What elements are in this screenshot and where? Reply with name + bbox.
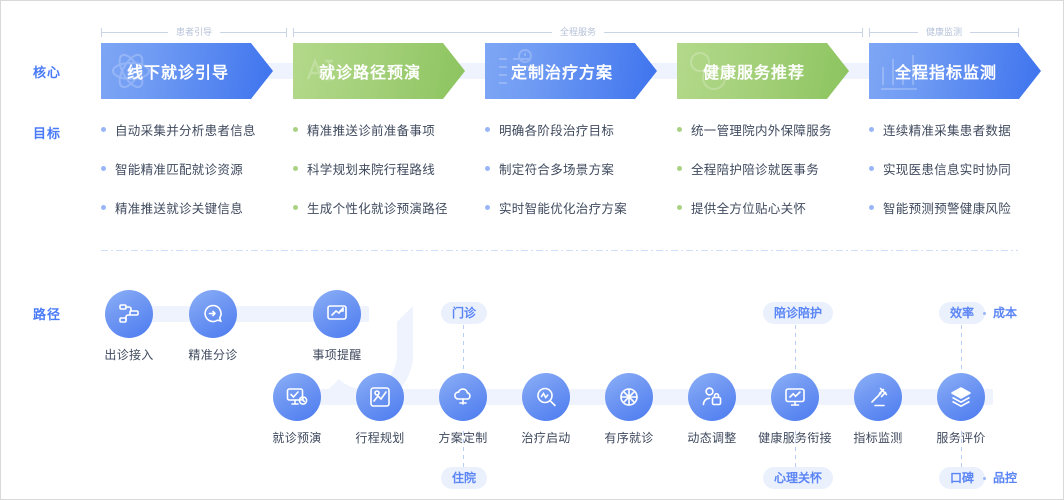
node-circle (854, 373, 902, 421)
bracket-cap-right (286, 28, 287, 37)
goal-item: 精准推送就诊关键信息 (101, 197, 291, 217)
goal-column-2: 明确各阶段治疗目标 制定符合多场景方案 实时智能优化治疗方案 (485, 119, 675, 236)
stage-title: 全程指标监测 (895, 59, 997, 83)
goal-item: 制定符合多场景方案 (485, 158, 675, 178)
goal-text: 精准推送就诊关键信息 (115, 198, 243, 217)
bracket-group-0: 患者引导 (101, 25, 287, 39)
path-node-bottom-3[interactable]: 治疗启动 (500, 373, 592, 446)
node-label: 出诊接入 (83, 346, 175, 363)
goal-column-3: 统一管理院内外保障服务 全程陪护陪诊就医事务 提供全方位贴心关怀 (677, 119, 867, 236)
stage-chevron-2[interactable]: 定制治疗方案 (485, 43, 657, 99)
goal-column-0: 自动采集并分析患者信息 智能精准匹配就诊资源 精准推送就诊关键信息 (101, 119, 291, 236)
goal-text: 制定符合多场景方案 (499, 159, 614, 178)
stage-title: 线下就诊引导 (127, 59, 229, 83)
goal-text: 实现医患信息实时协同 (883, 159, 1011, 178)
goal-text: 统一管理院内外保障服务 (691, 120, 832, 139)
bullet-dot (293, 127, 298, 132)
goal-item: 自动采集并分析患者信息 (101, 119, 291, 139)
outcome-tag-quality: 品控 (993, 467, 1017, 489)
goal-column-4: 连续精准采集患者数据 实现医患信息实时协同 智能预测预警健康风险 (869, 119, 1059, 236)
node-circle (105, 290, 153, 338)
rail-label-goal: 目标 (33, 123, 61, 142)
bullet-dot (101, 205, 106, 210)
bullet-dot (677, 205, 682, 210)
bracket-group-1: 全程服务 (293, 25, 863, 39)
goal-text: 生成个性化就诊预演路径 (307, 198, 448, 217)
bracket-label: 患者引导 (168, 25, 220, 38)
goal-text: 全程陪护陪诊就医事务 (691, 159, 819, 178)
goal-text: 明确各阶段治疗目标 (499, 120, 614, 139)
path-node-bottom-5[interactable]: 动态调整 (666, 373, 758, 446)
path-node-bottom-4[interactable]: 有序就诊 (583, 373, 675, 446)
monitor-trend-icon (783, 385, 807, 409)
bullet-dot (293, 166, 298, 171)
outcome-tag-reputation[interactable]: 口碑 (939, 467, 985, 489)
stage-title: 健康服务推荐 (703, 59, 805, 83)
bullet-dot (869, 205, 874, 210)
map-route-icon (368, 385, 392, 409)
monitor-check-icon (285, 385, 309, 409)
branch-tag-below-0[interactable]: 住院 (441, 467, 487, 489)
node-circle (356, 373, 404, 421)
bracket-cap-right (1018, 28, 1019, 37)
stage-title: 定制治疗方案 (511, 59, 613, 83)
path-node-top-0[interactable]: 出诊接入 (83, 290, 175, 363)
person-lock-icon (700, 385, 724, 409)
outcome-separator-dot-top (983, 312, 986, 315)
bracket-line-left (102, 32, 168, 33)
cloud-plan-icon (451, 385, 475, 409)
node-label: 指标监测 (832, 429, 924, 446)
node-circle (439, 373, 487, 421)
node-circle (688, 373, 736, 421)
goal-item: 连续精准采集患者数据 (869, 119, 1059, 139)
node-label: 精准分诊 (167, 346, 259, 363)
node-label: 有序就诊 (583, 429, 675, 446)
bracket-group-2: 健康监测 (869, 25, 1019, 39)
search-pulse-icon (534, 385, 558, 409)
bullet-dot (485, 127, 490, 132)
stage-chevron-0[interactable]: 线下就诊引导 (101, 43, 273, 99)
goal-item: 明确各阶段治疗目标 (485, 119, 675, 139)
bracket-label: 全程服务 (552, 25, 604, 38)
bullet-dot (485, 166, 490, 171)
bracket-cap-right (862, 28, 863, 37)
bullet-dot (293, 205, 298, 210)
goal-column-1: 精准推送诊前准备事项 科学规划来院行程路线 生成个性化就诊预演路径 (293, 119, 483, 236)
goal-item: 智能精准匹配就诊资源 (101, 158, 291, 178)
goal-text: 实时智能优化治疗方案 (499, 198, 627, 217)
goal-text: 智能预测预警健康风险 (883, 198, 1011, 217)
node-circle (313, 290, 361, 338)
infographic-canvas: 核心 目标 路径 患者引导 全程服务 健康监测 (0, 0, 1064, 500)
branch-tag-above-1[interactable]: 陪诊陪护 (763, 302, 833, 324)
node-circle (189, 290, 237, 338)
goal-item: 全程陪护陪诊就医事务 (677, 158, 867, 178)
branch-connector-up-1 (795, 325, 796, 371)
bracket-line-left (294, 32, 552, 33)
goal-text: 提供全方位贴心关怀 (691, 198, 806, 217)
node-label: 事项提醒 (291, 346, 383, 363)
gavel-icon (866, 385, 890, 409)
goal-text: 精准推送诊前准备事项 (307, 120, 435, 139)
section-divider (101, 250, 1018, 251)
bracket-line-left (870, 32, 918, 33)
speech-route-icon (201, 302, 225, 326)
branch-tag-below-1[interactable]: 心理关怀 (763, 467, 833, 489)
rail-label-core: 核心 (33, 62, 61, 81)
bullet-dot (869, 127, 874, 132)
bullet-dot (101, 127, 106, 132)
node-label: 动态调整 (666, 429, 758, 446)
node-label: 行程规划 (334, 429, 426, 446)
stage-chevron-3[interactable]: 健康服务推荐 (677, 43, 849, 99)
outcome-tag-efficiency[interactable]: 效率 (939, 302, 985, 324)
bullet-dot (869, 166, 874, 171)
stage-chevron-4[interactable]: 全程指标监测 (869, 43, 1041, 99)
bracket-line-right (604, 32, 862, 33)
path-node-bottom-1[interactable]: 行程规划 (334, 373, 426, 446)
network-hub-icon (617, 385, 641, 409)
goal-item: 实现医患信息实时协同 (869, 158, 1059, 178)
bracket-line-right (970, 32, 1018, 33)
outcome-connector-up (961, 325, 962, 371)
path-node-top-2[interactable]: 事项提醒 (291, 290, 383, 363)
branch-connector-down-1 (795, 431, 796, 467)
bullet-dot (101, 166, 106, 171)
goal-text: 科学规划来院行程路线 (307, 159, 435, 178)
goal-item: 精准推送诊前准备事项 (293, 119, 483, 139)
goal-text: 智能精准匹配就诊资源 (115, 159, 243, 178)
node-circle (273, 373, 321, 421)
bracket-line-right (220, 32, 286, 33)
bullet-dot (677, 127, 682, 132)
screen-arrow-icon (325, 302, 349, 326)
outcome-tag-cost: 成本 (993, 302, 1017, 324)
node-label: 治疗启动 (500, 429, 592, 446)
goal-item: 统一管理院内外保障服务 (677, 119, 867, 139)
stage-chevron-1[interactable]: 就诊路径预演 (293, 43, 465, 99)
goal-text: 连续精准采集患者数据 (883, 120, 1011, 139)
node-circle (605, 373, 653, 421)
bracket-label: 健康监测 (918, 25, 970, 38)
path-section: 出诊接入 精准分诊 (1, 263, 1063, 499)
path-node-bottom-0[interactable]: 就诊预演 (251, 373, 343, 446)
bullet-dot (485, 205, 490, 210)
outcome-separator-dot-bottom (983, 477, 986, 480)
outcome-connector-down (961, 431, 962, 467)
stage-title: 就诊路径预演 (319, 59, 421, 83)
goal-item: 科学规划来院行程路线 (293, 158, 483, 178)
goal-item: 智能预测预警健康风险 (869, 197, 1059, 217)
node-circle (937, 373, 985, 421)
path-node-top-1[interactable]: 精准分诊 (167, 290, 259, 363)
goal-item: 生成个性化就诊预演路径 (293, 197, 483, 217)
node-circle (522, 373, 570, 421)
bullet-dot (677, 166, 682, 171)
node-label: 就诊预演 (251, 429, 343, 446)
node-circle (771, 373, 819, 421)
flow-nodes-icon (117, 302, 141, 326)
branch-connector-up-0 (463, 325, 464, 371)
path-node-bottom-7[interactable]: 指标监测 (832, 373, 924, 446)
goal-item: 提供全方位贴心关怀 (677, 197, 867, 217)
branch-connector-down-0 (463, 431, 464, 467)
goal-text: 自动采集并分析患者信息 (115, 120, 256, 139)
layers-icon (949, 385, 973, 409)
goal-item: 实时智能优化治疗方案 (485, 197, 675, 217)
branch-tag-above-0[interactable]: 门诊 (441, 302, 487, 324)
